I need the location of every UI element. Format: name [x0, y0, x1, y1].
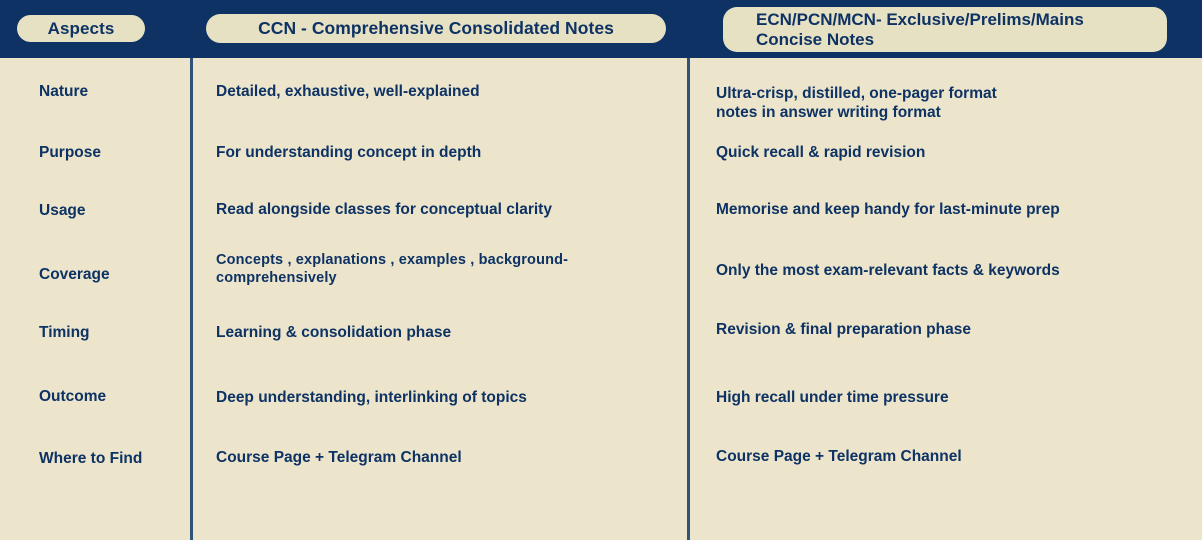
cell-ccn-where-to-find: Course Page + Telegram Channel [216, 449, 678, 468]
column-divider-right [687, 58, 690, 540]
cell-ecn-outcome: High recall under time pressure [716, 389, 1194, 408]
cell-ecn-timing: Revision & final preparation phase [716, 321, 1194, 340]
row-label-timing: Timing [39, 324, 184, 343]
row-label-coverage: Coverage [39, 266, 184, 285]
cell-ecn-where-to-find: Course Page + Telegram Channel [716, 448, 1194, 467]
cell-ecn-usage: Memorise and keep handy for last-minute … [716, 201, 1194, 220]
column-header-aspects: Aspects [17, 15, 145, 42]
row-label-usage: Usage [39, 202, 184, 221]
cell-ccn-purpose: For understanding concept in depth [216, 144, 678, 163]
column-header-ecn: ECN/PCN/MCN- Exclusive/Prelims/Mains Con… [723, 7, 1167, 52]
cell-ecn-nature-line1: Ultra-crisp, distilled, one-pager format [716, 85, 1194, 104]
cell-ecn-coverage: Only the most exam-relevant facts & keyw… [716, 262, 1194, 281]
cell-ccn-outcome: Deep understanding, interlinking of topi… [216, 389, 678, 408]
row-label-outcome: Outcome [39, 388, 184, 407]
row-label-nature: Nature [39, 83, 184, 102]
cell-ccn-coverage-line1: Concepts , explanations , examples , bac… [216, 252, 678, 270]
cell-ecn-purpose: Quick recall & rapid revision [716, 144, 1194, 163]
column-header-ccn-label: CCN - Comprehensive Consolidated Notes [258, 18, 614, 39]
cell-ccn-coverage: Concepts , explanations , examples , bac… [216, 252, 678, 287]
cell-ccn-coverage-line2: comprehensively [216, 270, 678, 288]
cell-ecn-nature: Ultra-crisp, distilled, one-pager format… [716, 85, 1194, 123]
cell-ccn-usage: Read alongside classes for conceptual cl… [216, 201, 678, 220]
cell-ccn-timing: Learning & consolidation phase [216, 324, 678, 343]
comparison-table: Aspects CCN - Comprehensive Consolidated… [0, 0, 1202, 540]
column-header-ecn-label: ECN/PCN/MCN- Exclusive/Prelims/Mains Con… [756, 10, 1084, 50]
cell-ecn-nature-line2: notes in answer writing format [716, 104, 1194, 123]
row-label-purpose: Purpose [39, 144, 184, 163]
row-label-where-to-find: Where to Find [39, 450, 184, 469]
column-divider-left [190, 58, 193, 540]
column-header-ecn-line1: ECN/PCN/MCN- Exclusive/Prelims/Mains [756, 10, 1084, 30]
column-header-ccn: CCN - Comprehensive Consolidated Notes [206, 14, 666, 43]
column-header-aspects-label: Aspects [48, 19, 115, 39]
cell-ccn-nature: Detailed, exhaustive, well-explained [216, 83, 678, 102]
column-header-ecn-line2: Concise Notes [756, 30, 1084, 50]
